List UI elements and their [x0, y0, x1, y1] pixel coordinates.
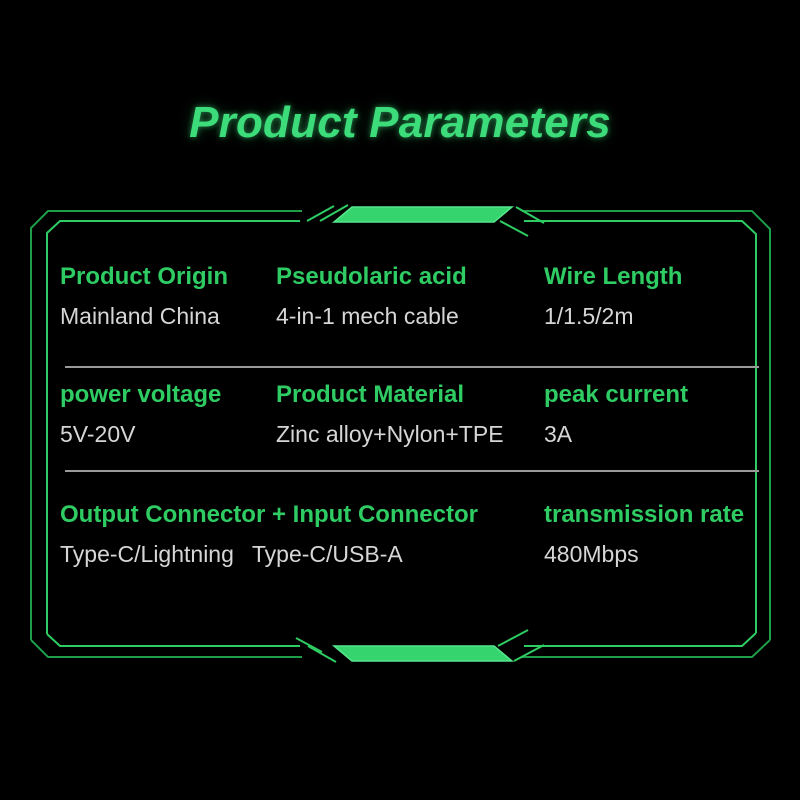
- spec-cell-wire-length: Wire Length 1/1.5/2m: [544, 262, 682, 331]
- spec-value: 1/1.5/2m: [544, 301, 682, 331]
- spec-label: Pseudolaric acid: [276, 262, 544, 292]
- spec-row-1: Product Origin Mainland China Pseudolari…: [60, 262, 766, 366]
- frame-outer-bottom-right: [522, 640, 770, 657]
- row-divider: [65, 470, 759, 472]
- frame-inner-bottom-right: [524, 633, 756, 646]
- frame-bottom-slash-right-a: [498, 630, 528, 646]
- spec-label: Product Origin: [60, 262, 276, 292]
- spec-value: 3A: [544, 419, 688, 449]
- spec-table: Product Origin Mainland China Pseudolari…: [60, 262, 766, 612]
- spec-value-output: Type-C/Lightning: [60, 539, 234, 569]
- spec-value: 4-in-1 mech cable: [276, 301, 544, 331]
- frame-bottom-slash-left-b: [296, 638, 322, 652]
- spec-label: Output Connector + Input Connector: [60, 500, 544, 530]
- spec-value-group: Type-C/Lightning Type-C/USB-A: [60, 539, 544, 569]
- frame-top-slash-right-b: [500, 221, 528, 236]
- spec-cell-power-voltage: power voltage 5V-20V: [60, 380, 276, 449]
- spec-label: transmission rate: [544, 500, 744, 530]
- frame-bottom-slash-left-a: [308, 646, 336, 662]
- spec-row-3: Output Connector + Input Connector Type-…: [60, 484, 766, 602]
- frame-bottom-tab: [334, 646, 512, 661]
- spec-cell-output-input-connector: Output Connector + Input Connector Type-…: [60, 500, 544, 569]
- spec-value: 5V-20V: [60, 419, 276, 449]
- frame-top-tab: [334, 207, 512, 222]
- spec-value: Zinc alloy+Nylon+TPE: [276, 419, 544, 449]
- spec-value-input: Type-C/USB-A: [252, 539, 403, 569]
- spec-label: power voltage: [60, 380, 276, 410]
- page-title: Product Parameters: [0, 98, 800, 148]
- spec-value: 480Mbps: [544, 539, 744, 569]
- spec-label: Product Material: [276, 380, 544, 410]
- frame-bottom-slash-right-b: [514, 645, 544, 661]
- spec-cell-product-origin: Product Origin Mainland China: [60, 262, 276, 331]
- frame-top-slash-right-a: [516, 207, 544, 223]
- frame-top-slash-left-b: [307, 206, 334, 221]
- frame-inner-bottom-left: [47, 634, 300, 646]
- spec-cell-product-material: Product Material Zinc alloy+Nylon+TPE: [276, 380, 544, 449]
- spec-cell-transmission-rate: transmission rate 480Mbps: [544, 500, 744, 569]
- spec-value: Mainland China: [60, 301, 276, 331]
- product-parameters-panel: Product Parameters: [0, 0, 800, 800]
- spec-label: Wire Length: [544, 262, 682, 292]
- spec-cell-pseudolaric-acid: Pseudolaric acid 4-in-1 mech cable: [276, 262, 544, 331]
- spec-label: peak current: [544, 380, 688, 410]
- spec-row-2: power voltage 5V-20V Product Material Zi…: [60, 366, 766, 484]
- frame-top-slash-left-a: [320, 205, 348, 221]
- spec-cell-peak-current: peak current 3A: [544, 380, 688, 449]
- frame-outer-bottom-left: [31, 640, 302, 657]
